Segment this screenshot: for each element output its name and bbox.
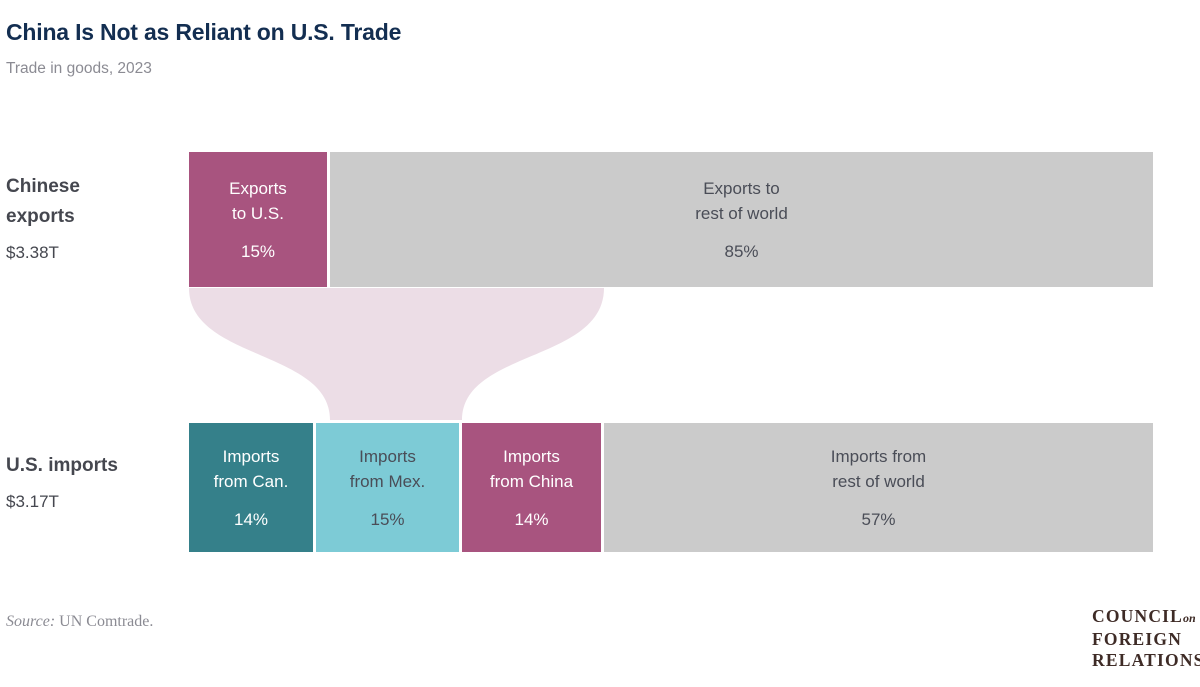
cfr-logo-line-3: RELATIONS bbox=[1092, 650, 1200, 671]
cfr-logo: COUNCILon FOREIGN RELATIONS bbox=[1092, 606, 1200, 671]
bar-segment-percent: 85% bbox=[724, 241, 758, 263]
bar-segment-label: Imports from Can. bbox=[214, 444, 289, 494]
bar-segment-percent: 57% bbox=[861, 509, 895, 531]
bar-segment-percent: 14% bbox=[234, 509, 268, 531]
cfr-logo-line-2: FOREIGN bbox=[1092, 629, 1200, 650]
bar-segment-label: Exports to U.S. bbox=[229, 176, 287, 226]
flow-ribbon-layer bbox=[0, 0, 1200, 687]
row-label-chinese-exports: Chinese exports $3.38T bbox=[6, 172, 181, 265]
bar-segment-percent: 15% bbox=[241, 241, 275, 263]
row-label-us-imports: U.S. imports $3.17T bbox=[6, 451, 181, 514]
row-label-value: $3.17T bbox=[6, 490, 181, 514]
cfr-logo-on-text: on bbox=[1183, 611, 1196, 625]
bar-segment-imports-from-mexico[interactable]: Imports from Mex. 15% bbox=[316, 423, 462, 552]
sankey-chart bbox=[0, 0, 1200, 687]
bar-row-chinese-exports: Exports to U.S. 15% Exports to rest of w… bbox=[189, 152, 1153, 287]
bar-segment-label: Imports from rest of world bbox=[831, 444, 926, 494]
cfr-logo-council-text: COUNCIL bbox=[1092, 606, 1183, 626]
bar-row-us-imports: Imports from Can. 14% Imports from Mex. … bbox=[189, 423, 1153, 552]
chart-subtitle: Trade in goods, 2023 bbox=[6, 60, 152, 78]
row-label-value: $3.38T bbox=[6, 241, 181, 265]
source-note: Source: UN Comtrade. bbox=[6, 613, 153, 631]
row-label-name: U.S. imports bbox=[6, 451, 181, 481]
bar-segment-imports-rest-of-world[interactable]: Imports from rest of world 57% bbox=[604, 423, 1153, 552]
cfr-logo-line-1: COUNCILon bbox=[1092, 606, 1200, 629]
flow-ribbon-china-to-us bbox=[189, 288, 604, 420]
bar-segment-imports-from-canada[interactable]: Imports from Can. 14% bbox=[189, 423, 316, 552]
bar-segment-imports-from-china[interactable]: Imports from China 14% bbox=[462, 423, 604, 552]
row-label-name: Chinese exports bbox=[6, 172, 181, 232]
page-title: China Is Not as Reliant on U.S. Trade bbox=[6, 19, 401, 46]
bar-segment-label: Imports from China bbox=[490, 444, 573, 494]
bar-segment-exports-to-us[interactable]: Exports to U.S. 15% bbox=[189, 152, 330, 287]
bar-segment-exports-rest-of-world[interactable]: Exports to rest of world 85% bbox=[330, 152, 1153, 287]
source-value: UN Comtrade. bbox=[55, 613, 153, 630]
source-label: Source: bbox=[6, 613, 55, 630]
bar-segment-label: Imports from Mex. bbox=[350, 444, 426, 494]
bar-segment-percent: 15% bbox=[370, 509, 404, 531]
bar-segment-label: Exports to rest of world bbox=[695, 176, 788, 226]
bar-segment-percent: 14% bbox=[514, 509, 548, 531]
